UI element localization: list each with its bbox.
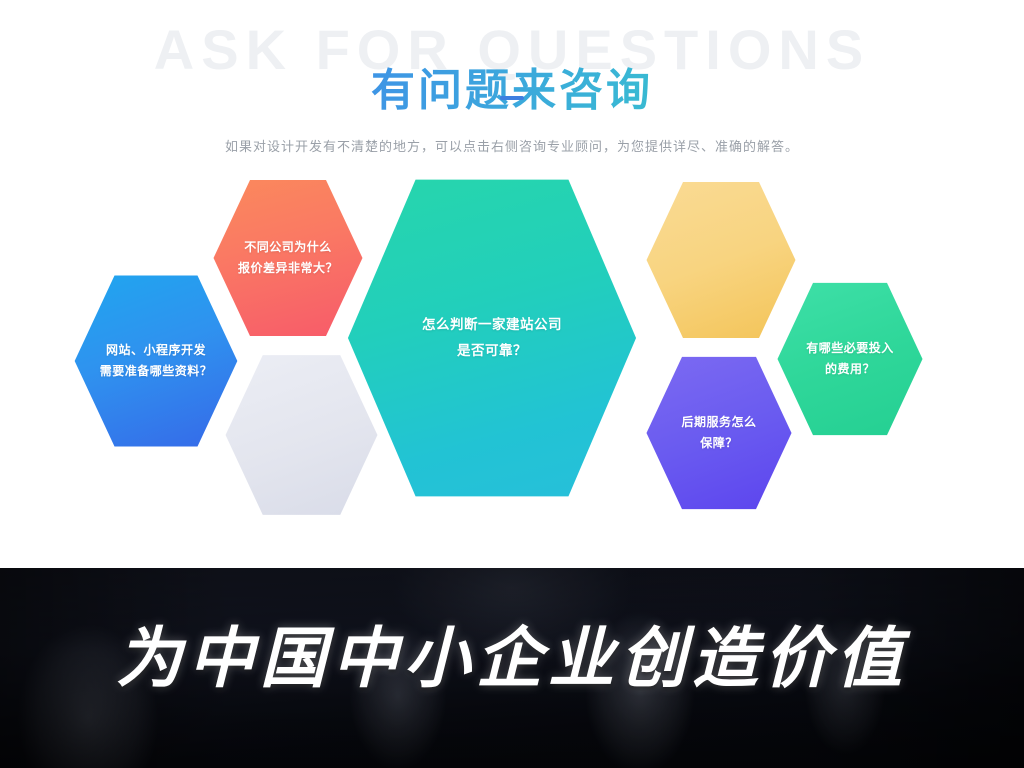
- faq-heading-block: ASK FOR QUESTIONS 有问题来咨询 如果对设计开发有不清楚的地方，…: [0, 8, 1024, 148]
- faq-hexagon-label: 有哪些必要投入 的费用？: [796, 338, 904, 380]
- faq-hexagon-label: 怎么判断一家建站公司 是否可靠？: [412, 312, 572, 363]
- faq-section: ASK FOR QUESTIONS 有问题来咨询 如果对设计开发有不清楚的地方，…: [0, 0, 1024, 568]
- faq-hexagon-label: 后期服务怎么 保障？: [671, 412, 766, 454]
- faq-hexagon-website-materials[interactable]: 网站、小程序开发 需要准备哪些资料？: [73, 270, 239, 452]
- page-title: 有问题来咨询: [0, 63, 1024, 118]
- faq-hexagon-reliable-company[interactable]: 怎么判断一家建站公司 是否可靠？: [345, 173, 639, 503]
- faq-hexagon-after-sales-service[interactable]: 后期服务怎么 保障？: [645, 352, 793, 514]
- faq-hexagon-necessary-costs[interactable]: 有哪些必要投入 的费用？: [776, 278, 924, 440]
- faq-hexagon-price-difference[interactable]: 不同公司为什么 报价差异非常大？: [212, 175, 364, 341]
- slogan-banner: 为中国中小企业创造价值: [0, 568, 1024, 768]
- banner-slogan-text: 为中国中小企业创造价值: [0, 624, 1024, 697]
- title-underline-divider: [500, 96, 524, 100]
- faq-hexagon-decorative-yellow: [645, 177, 797, 343]
- faq-hexagon-label: 不同公司为什么 报价差异非常大？: [228, 237, 348, 279]
- faq-hexagon-label: 网站、小程序开发 需要准备哪些资料？: [90, 340, 223, 382]
- hexagon-cluster: 网站、小程序开发 需要准备哪些资料？ 不同公司为什么 报价差异非常大？ 怎么判断…: [0, 160, 1024, 550]
- faq-hexagon-decorative-grey: [224, 350, 379, 520]
- page-subtitle: 如果对设计开发有不清楚的地方，可以点击右侧咨询专业顾问，为您提供详尽、准确的解答…: [0, 137, 1024, 158]
